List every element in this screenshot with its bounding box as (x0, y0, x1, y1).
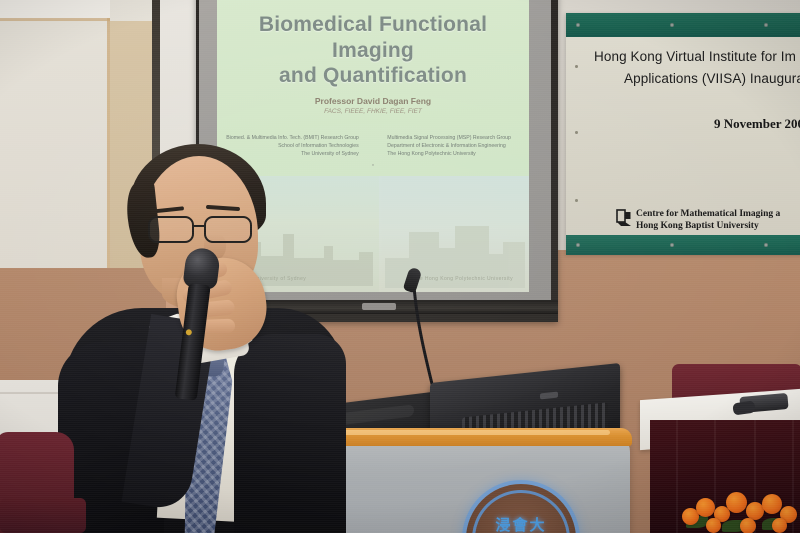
banner-grommet (764, 23, 768, 27)
chair-left-seat (0, 498, 86, 533)
slide-title-line2: and Quantification (217, 63, 529, 89)
eyeglass-lens-left (148, 216, 194, 243)
banner-organiser-line2: Hong Kong Baptist University (636, 221, 780, 233)
banner-organiser: Centre for Mathematical Imaging a Hong K… (636, 209, 780, 233)
banner-title-line1: Hong Kong Virtual Institute for Im (566, 49, 800, 64)
banner-bottom-band (566, 235, 800, 255)
slide-presenter-credentials: FACS, FIEEE, FHKIE, FIEE, FIET (217, 108, 529, 115)
affiliation-right-line2: Department of Electronic & Information E… (387, 142, 529, 150)
eyeglasses (146, 216, 262, 246)
banner-grommet (764, 243, 768, 247)
suit-jacket-right (234, 334, 346, 533)
slide-title: Biomedical Functional Imaging and Quanti… (217, 12, 529, 89)
slide-affiliation-right: Multimedia Signal Processing (MSP) Resea… (379, 134, 529, 158)
banner-top-band (566, 13, 800, 37)
left-wall-panel-top (0, 0, 110, 20)
book-icon (616, 209, 633, 228)
banner-date: 9 November 2009 (566, 116, 800, 132)
banner-grommet (576, 243, 580, 247)
banner-organiser-line1: Centre for Mathematical Imaging a (636, 209, 780, 221)
affiliation-right-line3: The Hong Kong Polytechnic University (387, 150, 529, 158)
flower-arrangement (676, 472, 800, 533)
conference-photo-scene: Biomedical Functional Imaging and Quanti… (0, 0, 800, 533)
banner-title-line2: Applications (VIISA) Inaugura (566, 71, 800, 86)
eyeglass-lens-right (204, 216, 252, 243)
event-banner: Hong Kong Virtual Institute for Im Appli… (566, 13, 800, 255)
affiliation-right-line1: Multimedia Signal Processing (MSP) Resea… (387, 134, 529, 142)
projection-screen-pull-tab[interactable] (362, 303, 396, 310)
banner-grommet (670, 243, 674, 247)
slide-presenter-name: Professor David Dagan Feng (217, 96, 529, 106)
slide-title-line1: Biomedical Functional Imaging (217, 12, 529, 63)
emblem-text: 浸會大 (466, 514, 576, 533)
wall-trim-horizontal (0, 18, 110, 21)
banner-grommet (670, 23, 674, 27)
